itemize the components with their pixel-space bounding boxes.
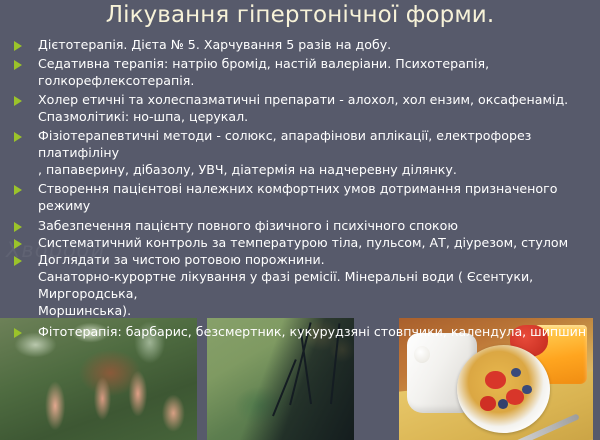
- triangle-bullet-icon: [14, 60, 22, 70]
- list-item[interactable]: Фітотерапія: барбарис, безсмертник, куку…: [0, 323, 600, 340]
- list-item-line: Фізіотерапевтичні методи - солюкс, апара…: [38, 127, 596, 144]
- list-item-line: Миргородська,: [38, 285, 596, 302]
- strawberry-slice-shape: [480, 396, 497, 411]
- blueberry-shape: [522, 385, 531, 394]
- list-item-line: Холер етичні та холеспазматичні препарат…: [38, 91, 596, 108]
- list-item[interactable]: Систематичний контроль за температурою т…: [0, 234, 600, 251]
- list-item[interactable]: Забезпечення пацієнту повного фізичного …: [0, 217, 600, 234]
- triangle-bullet-icon: [14, 96, 22, 106]
- presentation-slide: Хвороби Лікування гіпертонічної форми. Д…: [0, 0, 600, 440]
- list-item[interactable]: Холер етичні та холеспазматичні препарат…: [0, 91, 600, 125]
- list-item[interactable]: Седативна терапія: натрію бромід, настій…: [0, 55, 600, 89]
- cereal-bowl-shape: [457, 345, 550, 433]
- list-item-line: Доглядати за чистою ротовою порожнини.: [38, 251, 596, 268]
- list-item-line: Моршинська).: [38, 302, 596, 319]
- list-item-line: Спазмолітикі: но-шпа, церукал.: [38, 108, 596, 125]
- triangle-bullet-icon: [14, 41, 22, 51]
- triangle-bullet-icon: [14, 222, 22, 232]
- list-item-line: платифіліну: [38, 144, 596, 161]
- strawberry-slice-shape: [485, 371, 505, 389]
- list-item-line: Забезпечення пацієнту повного фізичного …: [38, 217, 596, 234]
- milk-surface-shape: [414, 346, 431, 364]
- blueberry-shape: [498, 399, 508, 409]
- list-item-line: Створення пацієнтові належних комфортних…: [38, 180, 596, 197]
- list-item[interactable]: Фізіотерапевтичні методи - солюкс, апара…: [0, 127, 600, 178]
- list-item[interactable]: Дієтотерапія. Дієта № 5. Харчування 5 ра…: [0, 36, 600, 53]
- blueberry-shape: [511, 368, 521, 378]
- list-item[interactable]: Доглядати за чистою ротовою порожнини. С…: [0, 251, 600, 319]
- list-item-line: Санаторно-курортне лікування у фазі ремі…: [38, 268, 596, 285]
- triangle-bullet-icon: [14, 185, 22, 195]
- triangle-bullet-icon: [14, 239, 22, 249]
- list-item[interactable]: Створення пацієнтові належних комфортних…: [0, 180, 600, 214]
- list-item-line: голкорефлексотерапія.: [38, 72, 596, 89]
- list-item-line: Дієтотерапія. Дієта № 5. Харчування 5 ра…: [38, 36, 596, 53]
- triangle-bullet-icon: [14, 256, 22, 266]
- triangle-bullet-icon: [14, 132, 22, 142]
- triangle-bullet-icon: [14, 328, 22, 338]
- bullet-list: Дієтотерапія. Дієта № 5. Харчування 5 ра…: [0, 36, 600, 340]
- list-item-line: Систематичний контроль за температурою т…: [38, 234, 596, 251]
- list-item-line: Седативна терапія: натрію бромід, настій…: [38, 55, 596, 72]
- slide-title: Лікування гіпертонічної форми.: [0, 1, 600, 29]
- list-item-line: режиму: [38, 197, 596, 214]
- list-item-line: Фітотерапія: барбарис, безсмертник, куку…: [38, 323, 596, 340]
- list-item-line: , папаверину, дібазолу, УВЧ, діатермія н…: [38, 161, 596, 178]
